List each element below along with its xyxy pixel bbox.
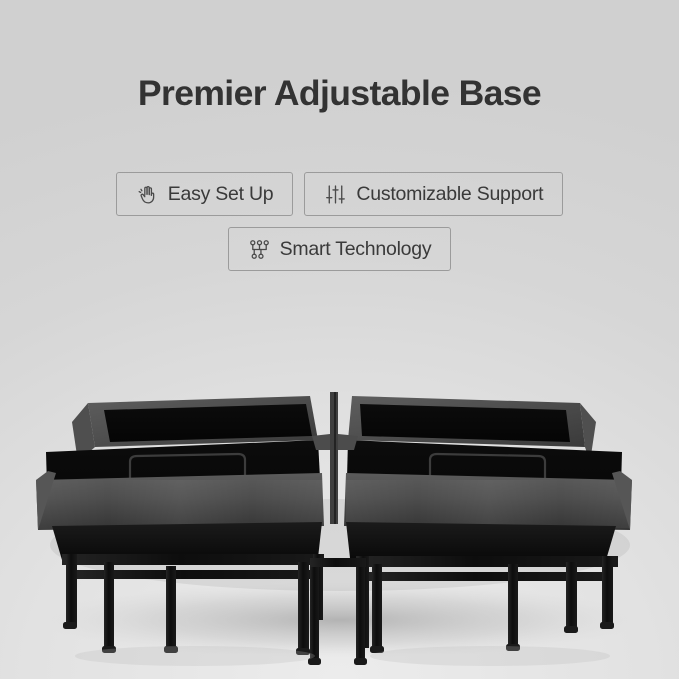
badge-label: Customizable Support <box>356 183 543 206</box>
product-hero-card: Premier Adjustable Base Easy Set Up <box>0 0 679 679</box>
badge-easy-set-up[interactable]: Easy Set Up <box>116 172 294 216</box>
badge-label: Smart Technology <box>280 238 432 261</box>
product-image <box>0 330 679 679</box>
badge-smart-technology[interactable]: Smart Technology <box>228 227 452 271</box>
network-nodes-icon <box>248 238 271 261</box>
feature-badge-group: Easy Set Up Customizable Support <box>0 172 679 271</box>
page-title: Premier Adjustable Base <box>0 74 679 114</box>
adjustable-base-illustration <box>0 330 679 679</box>
badge-label: Easy Set Up <box>168 183 274 206</box>
badge-customizable-support[interactable]: Customizable Support <box>304 172 563 216</box>
sliders-icon <box>324 183 347 206</box>
hand-icon <box>136 183 159 206</box>
